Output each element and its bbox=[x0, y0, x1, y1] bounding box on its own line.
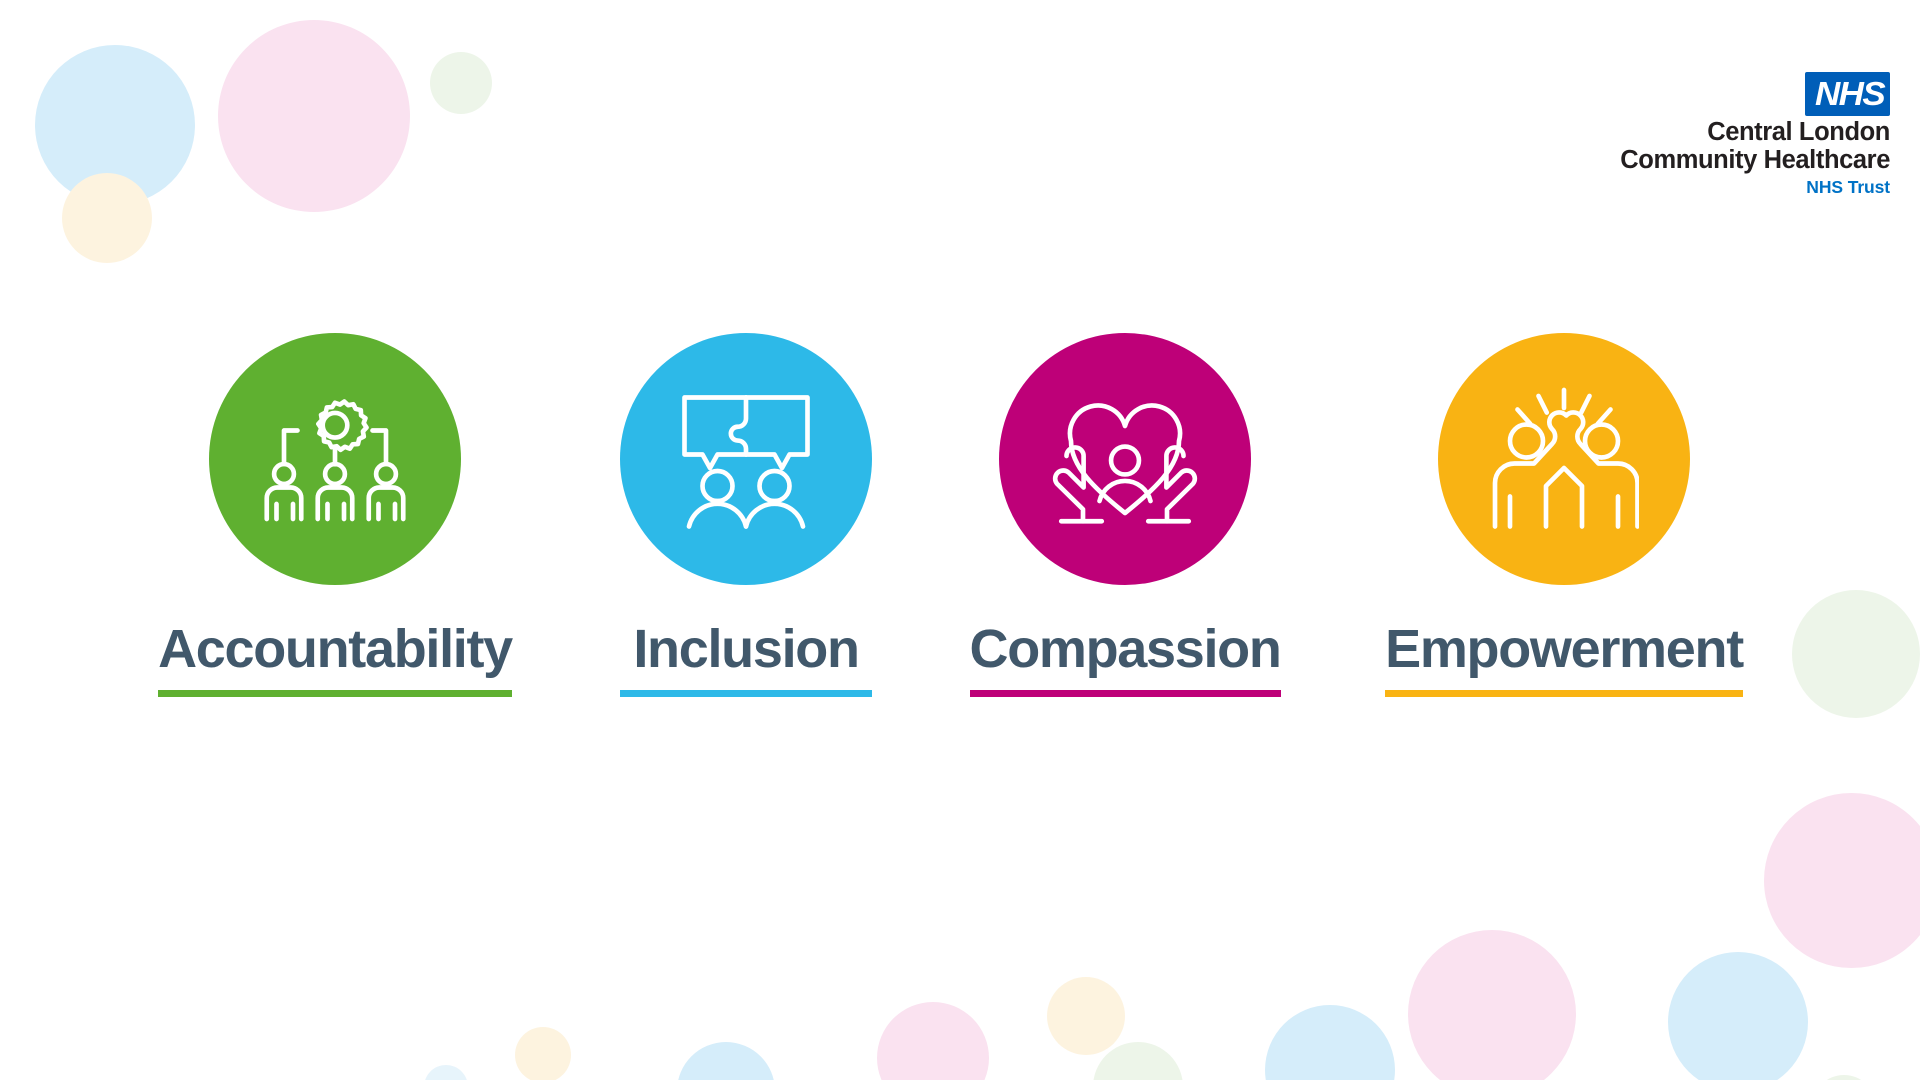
value-underline bbox=[620, 690, 872, 697]
value-label: Inclusion bbox=[620, 622, 872, 676]
bubble-cream-bottom-c3 bbox=[515, 1027, 571, 1080]
value-underline bbox=[970, 690, 1281, 697]
bubble-pink-top-left bbox=[218, 20, 410, 212]
bubble-green-bottom-right bbox=[1812, 1075, 1876, 1080]
value-item-inclusion[interactable]: Inclusion bbox=[620, 333, 872, 697]
value-item-compassion[interactable]: Compassion bbox=[970, 333, 1281, 697]
value-underline bbox=[158, 690, 512, 697]
hands-heart-person-icon bbox=[1050, 384, 1200, 534]
value-icon-circle bbox=[1438, 333, 1690, 585]
bubble-blue-bottom-center bbox=[677, 1042, 775, 1080]
high-five-people-icon bbox=[1489, 384, 1639, 534]
nhs-logo-text: NHS bbox=[1815, 77, 1884, 110]
value-label: Compassion bbox=[970, 622, 1281, 676]
bubble-blue-bottom-right bbox=[1668, 952, 1808, 1080]
value-icon-circle bbox=[620, 333, 872, 585]
value-icon-circle bbox=[999, 333, 1251, 585]
value-item-empowerment[interactable]: Empowerment bbox=[1385, 333, 1743, 697]
value-label: Accountability bbox=[158, 622, 512, 676]
bubble-cream-bottom-left bbox=[1047, 977, 1125, 1055]
logo-trust-label: NHS Trust bbox=[1620, 179, 1890, 197]
value-label: Empowerment bbox=[1385, 622, 1743, 676]
bubble-pink-bottom-center bbox=[877, 1002, 989, 1080]
bubble-green-bottom-c2 bbox=[1093, 1042, 1183, 1080]
value-underline bbox=[1385, 690, 1743, 697]
nhs-logo-mark: NHS bbox=[1805, 72, 1890, 116]
logo-line-two: Community Healthcare bbox=[1620, 147, 1890, 175]
gear-team-icon bbox=[260, 384, 410, 534]
bubble-pink-right bbox=[1764, 793, 1920, 968]
nhs-trust-logo: NHS Central London Community Healthcare … bbox=[1620, 72, 1890, 197]
value-item-accountability[interactable]: Accountability bbox=[158, 333, 512, 697]
bubble-cream-top-left bbox=[62, 173, 152, 263]
bubble-green-top-left bbox=[430, 52, 492, 114]
values-row: Accountability Inclusion Com bbox=[0, 333, 1920, 713]
slide-canvas: NHS Central London Community Healthcare … bbox=[0, 0, 1920, 1080]
puzzle-speech-bubbles-icon bbox=[671, 384, 821, 534]
value-icon-circle bbox=[209, 333, 461, 585]
bubble-blue-bottom-far bbox=[424, 1065, 468, 1080]
bubble-blue-top-left bbox=[35, 45, 195, 205]
bubble-pink-bottom-mid bbox=[1408, 930, 1576, 1080]
logo-line-one: Central London bbox=[1620, 119, 1890, 147]
bubble-blue-bottom-mid bbox=[1265, 1005, 1395, 1080]
